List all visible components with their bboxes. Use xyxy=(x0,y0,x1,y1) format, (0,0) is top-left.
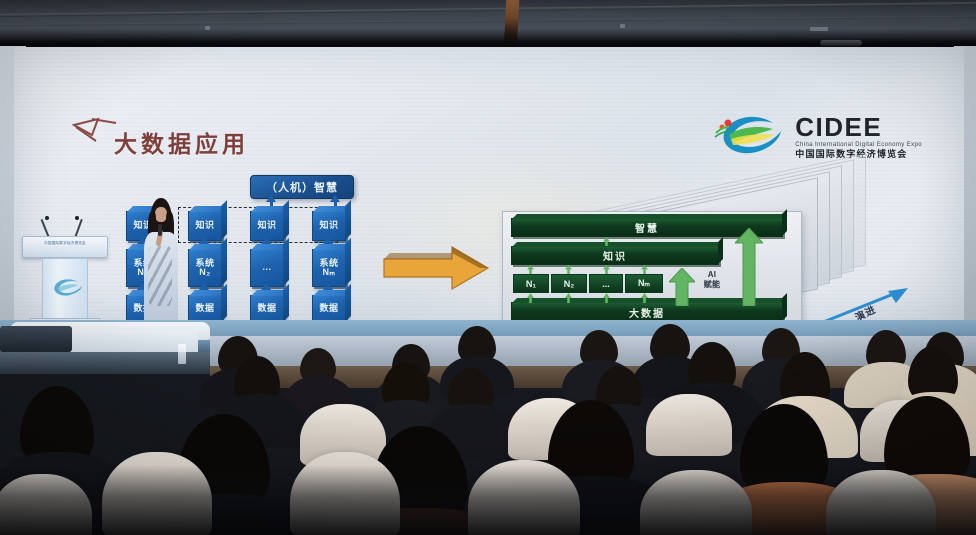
arrow-up-icon xyxy=(565,265,572,274)
arrow-up-icon xyxy=(330,195,340,202)
arrow-up-icon xyxy=(603,237,610,246)
conference-photo-scene: 大数据应用 CIDEE China International Digital … xyxy=(0,0,976,535)
arrow-up-icon xyxy=(261,237,271,244)
ai-arrow-tall-icon xyxy=(735,228,763,306)
microphone-head-icon xyxy=(75,216,79,220)
ceiling-fixture-icon xyxy=(620,24,625,28)
knowledge-label: 知识 xyxy=(257,221,276,230)
lectern-body xyxy=(42,258,88,320)
handheld-microphone-icon xyxy=(158,224,162,236)
cidee-emblem-icon xyxy=(711,113,787,159)
ellipsis-label: ... xyxy=(262,263,271,272)
arrow-up-icon xyxy=(565,293,572,303)
node-box: Nₘ xyxy=(625,274,663,293)
arrow-up-icon xyxy=(199,237,209,244)
data-label: 数据 xyxy=(257,304,276,313)
arrow-up-icon xyxy=(323,283,333,290)
arrow-up-icon xyxy=(641,265,648,274)
ceiling-rail-secondary xyxy=(0,16,976,27)
system-cube: 系统 N₂ xyxy=(188,249,222,287)
data-label: 数据 xyxy=(319,304,338,313)
arrow-up-icon xyxy=(527,265,534,274)
system-cube: 系统 Nₘ xyxy=(312,249,346,287)
microphone-head-icon xyxy=(45,216,49,220)
system-sublabel: Nₘ xyxy=(322,268,335,277)
arrow-up-icon xyxy=(266,195,276,202)
ai-empowerment-label: AI 赋能 xyxy=(689,270,735,290)
arrow-up-icon xyxy=(199,283,209,290)
arrow-up-icon xyxy=(323,237,333,244)
cidee-logo: CIDEE China International Digital Econom… xyxy=(711,113,922,159)
data-label: 数据 xyxy=(195,304,214,313)
ceiling-fixture-icon xyxy=(810,27,828,31)
slide-title: 大数据应用 xyxy=(114,125,249,159)
arrow-up-icon xyxy=(641,293,648,303)
ceiling-fixture-icon xyxy=(205,26,210,30)
knowledge-bar: 知识 xyxy=(511,246,719,265)
cidee-brand: CIDEE xyxy=(795,114,922,140)
cidee-subtitle-en: China International Digital Economy Expo xyxy=(795,141,922,147)
title-decoration-icon xyxy=(72,117,118,153)
ellipsis-cube: ... xyxy=(250,249,284,287)
lectern-label: 中国国际数字经济博览会 xyxy=(30,241,100,246)
ai-label-line2: 赋能 xyxy=(689,280,735,290)
cidee-logo-text: CIDEE China International Digital Econom… xyxy=(795,114,922,159)
data-cube: 数据 xyxy=(250,295,284,323)
arrow-up-icon xyxy=(527,293,534,303)
arrow-up-icon xyxy=(603,293,610,303)
floor-shadow xyxy=(0,465,976,535)
transition-arrow-icon xyxy=(382,243,490,293)
speaker-dress-pattern xyxy=(148,246,172,306)
ceiling-rail xyxy=(0,2,976,17)
chair-back xyxy=(646,394,732,456)
knowledge-label: 知识 xyxy=(195,221,214,230)
arrow-up-icon xyxy=(261,283,271,290)
lectern-top xyxy=(22,236,108,258)
lectern-cidee-emblem-icon xyxy=(49,277,83,299)
arrow-up-icon xyxy=(603,265,610,274)
node-box: N₂ xyxy=(551,274,587,293)
data-cube: 数据 xyxy=(312,295,346,323)
system-sublabel: N₂ xyxy=(199,268,211,277)
data-cube: 数据 xyxy=(188,295,222,323)
water-bottle xyxy=(178,344,186,364)
node-box: N₁ xyxy=(513,274,549,293)
ai-label-line1: AI xyxy=(689,270,735,280)
front-panel: 智慧 知识 N₁ N₂ ... Nₘ 大数据 xyxy=(502,211,802,329)
table-shadow-front xyxy=(0,352,240,374)
stage-monitor xyxy=(0,326,72,352)
right-diagram-bigdata-system: 智慧 知识 N₁ N₂ ... Nₘ 大数据 xyxy=(492,189,892,339)
node-box: ... xyxy=(589,274,623,293)
speaker-presenter xyxy=(138,198,184,326)
knowledge-label: 知识 xyxy=(319,221,338,230)
